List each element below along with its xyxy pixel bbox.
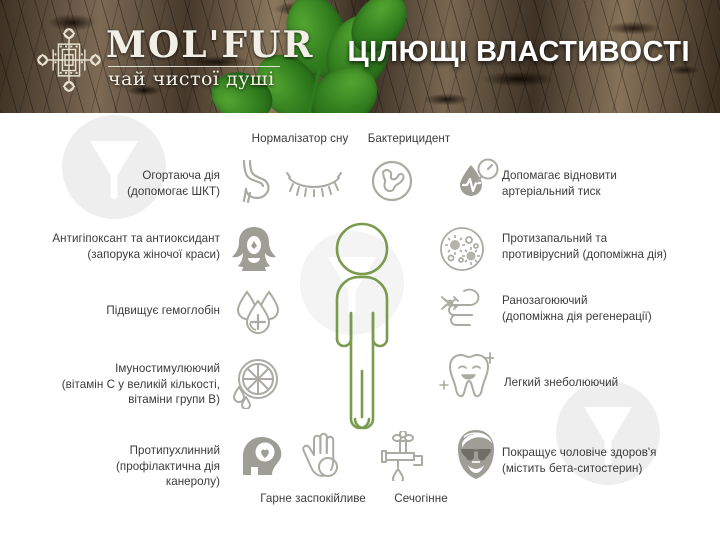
- right-label-analgesic: Легкий знеболюючий: [504, 375, 704, 391]
- left-label-antitumor: Протипухлинний (профілактична дія канеро…: [54, 443, 220, 490]
- blood-drops-cross-icon: [234, 289, 282, 335]
- brand-tagline: чай чистої душі: [108, 68, 275, 90]
- bottom-label-diuretic: Сечогінне: [378, 491, 464, 507]
- head-heart-icon: [240, 435, 284, 479]
- right-label-antiinflammatory: Протизапальний та противірусний (допоміж…: [502, 231, 714, 262]
- left-label-gastro: Огортаюча дія (допомогає ШКТ): [60, 168, 220, 199]
- bearded-man-sunglasses-icon: [452, 429, 500, 481]
- left-label-hemoglobin: Підвищує гемоглобін: [60, 303, 220, 319]
- bacteria-globe-icon: [370, 159, 414, 203]
- bandage-wound-healing-icon: [438, 285, 486, 333]
- brand-logo: MOL'FUR чай чистої душі: [92, 22, 342, 96]
- right-label-blood-pressure: Допомагає відновити артеріальний тиск: [502, 168, 710, 199]
- brand-name: MOL'FUR: [106, 24, 314, 66]
- woman-beauty-icon: [228, 225, 280, 273]
- infographic-page: MOL'FUR чай чистої душі ЦІЛЮЩІ ВЛАСТИВОС…: [0, 0, 720, 540]
- right-label-mens-health: Покращує чоловіче здоров'я (містить бета…: [502, 445, 716, 476]
- virus-petri-dish-icon: [438, 225, 486, 273]
- content-area: Нормалізатор сну Бактерицидент: [0, 113, 720, 540]
- left-label-immunostimulant: Імуностимулюючий (вітамін С у великій кі…: [34, 361, 220, 408]
- blood-pressure-drop-icon: [455, 157, 501, 203]
- closed-eye-sleep-icon: [286, 169, 342, 197]
- bottom-label-sedative: Гарне заспокійливе: [250, 491, 376, 507]
- human-body-silhouette: [316, 221, 408, 441]
- happy-tooth-icon: [438, 351, 494, 403]
- top-label-sleep: Нормалізатор сну: [246, 131, 354, 147]
- page-title: ЦІЛЮЩІ ВЛАСТИВОСТІ: [348, 36, 691, 69]
- watermark-logo-top-left: [62, 115, 166, 219]
- header-banner: MOL'FUR чай чистої душі ЦІЛЮЩІ ВЛАСТИВОС…: [0, 0, 720, 113]
- brand-divider: [108, 66, 280, 67]
- right-label-wound-healing: Ранозагоюючий (допоміжна дія регенерації…: [502, 293, 714, 324]
- lemon-slice-drops-icon: [230, 357, 284, 409]
- top-label-bactericide: Бактерицидент: [358, 131, 460, 147]
- left-label-antioxidant: Антигіпоксант та антиоксидант (запорука …: [22, 231, 220, 262]
- stomach-icon: [236, 159, 276, 203]
